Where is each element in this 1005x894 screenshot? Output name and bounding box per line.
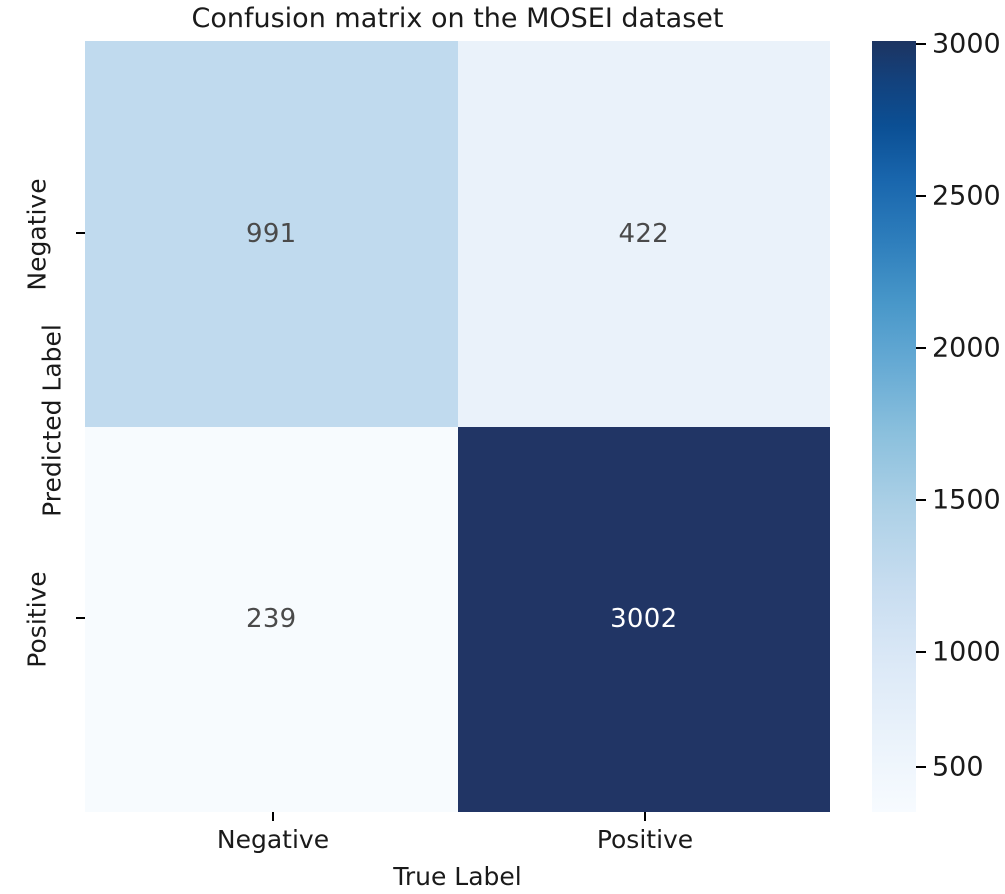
heatmap-grid: 991 422 239 3002 [85,41,830,812]
colorbar-tick-label-2000: 2000 [932,335,1001,362]
colorbar-tick-label-1000: 1000 [932,639,1001,666]
colorbar-tick-mark-1500 [916,499,926,501]
cell-value: 3002 [610,604,677,634]
colorbar-tick-label-3000: 3000 [932,31,1001,58]
y-tick-mark-negative [76,232,85,234]
colorbar-tick-mark-1000 [916,651,926,653]
colorbar-tick-mark-3000 [916,43,926,45]
heatmap-cell-positive-positive[interactable]: 3002 [458,427,831,813]
y-tick-mark-positive [76,617,85,619]
x-tick-label-negative: Negative [123,825,423,854]
colorbar-tick-label-500: 500 [932,754,984,781]
colorbar-tick-label-2500: 2500 [932,183,1001,210]
colorbar: 3000 2500 2000 1500 1000 500 [872,41,916,812]
page-title: Confusion matrix on the MOSEI dataset [85,2,830,36]
x-tick-mark-positive [644,812,646,821]
x-tick-label-positive: Positive [495,825,795,854]
colorbar-tick-mark-2000 [916,347,926,349]
colorbar-gradient [872,41,916,812]
x-tick-mark-negative [272,812,274,821]
colorbar-tick-label-1500: 1500 [932,487,1001,514]
heatmap-cell-positive-negative[interactable]: 239 [85,427,458,813]
colorbar-tick-mark-2500 [916,195,926,197]
colorbar-tick-mark-500 [916,766,926,768]
cell-value: 991 [246,219,297,249]
x-axis-title: True Label [85,862,830,891]
heatmap-cell-negative-negative[interactable]: 991 [85,41,458,427]
heatmap-cell-negative-positive[interactable]: 422 [458,41,831,427]
cell-value: 239 [246,604,297,634]
confusion-matrix-figure: Confusion matrix on the MOSEI dataset 99… [0,0,1005,894]
cell-value: 422 [618,219,669,249]
y-axis-title: Predicted Label [38,221,67,621]
